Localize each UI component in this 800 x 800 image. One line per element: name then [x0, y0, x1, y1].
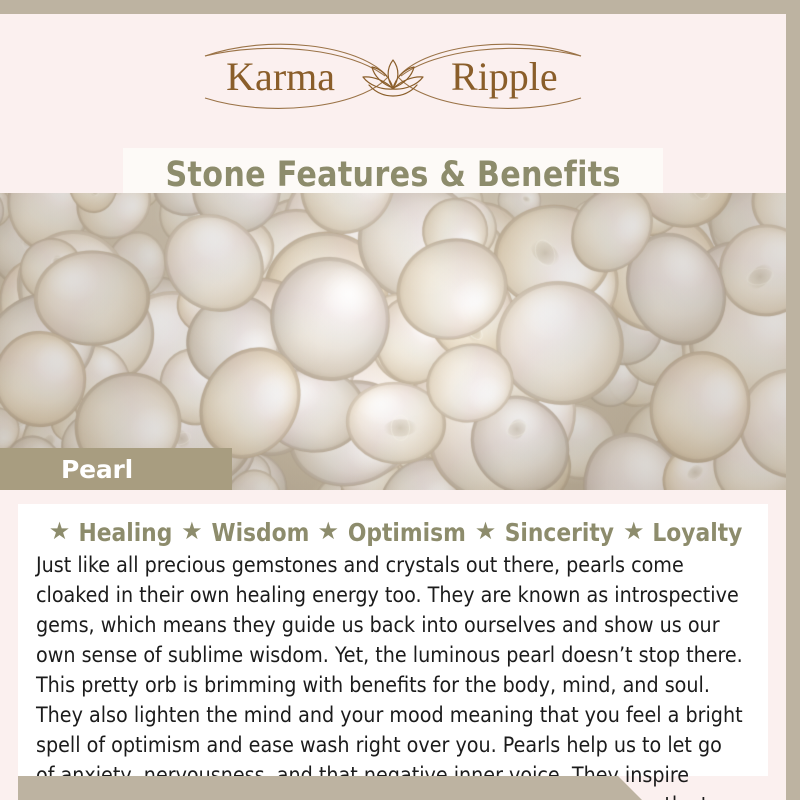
pearl-photo-image — [0, 193, 786, 490]
benefit-item: ★Wisdom — [174, 518, 310, 547]
star-icon: ★ — [475, 520, 497, 544]
benefits-list: ★Healing★Wisdom★Optimism★Sincerity★Loyal… — [34, 518, 752, 547]
brand-logo: Karma Ripple — [173, 38, 613, 114]
benefit-label: Optimism — [348, 518, 466, 547]
stone-description: Just like all precious gemstones and cry… — [34, 551, 745, 800]
star-icon: ★ — [181, 520, 203, 544]
benefit-label: Wisdom — [211, 518, 309, 547]
star-icon: ★ — [623, 520, 645, 544]
brand-name-right: Ripple — [451, 54, 558, 99]
content-panel: ★Healing★Wisdom★Optimism★Sincerity★Loyal… — [18, 504, 768, 776]
stone-photo — [0, 193, 786, 490]
benefit-item: ★Healing — [42, 518, 174, 547]
photo-gap-strip — [0, 490, 786, 504]
benefit-item: ★Sincerity — [468, 518, 616, 547]
brand-name-left: Karma — [226, 54, 335, 99]
benefit-item: ★Optimism — [311, 518, 468, 547]
benefit-item: ★Loyalty — [616, 518, 744, 547]
benefit-label: Healing — [79, 518, 173, 547]
lotus-icon: Karma Ripple — [173, 38, 613, 114]
benefit-label: Loyalty — [653, 518, 743, 547]
page-title: Stone Features & Benefits — [165, 155, 620, 195]
stone-name-band: Pearl — [0, 448, 232, 490]
stone-name-label: Pearl — [61, 455, 133, 484]
outer-frame: Karma Ripple Stone Features & Benefits P… — [0, 0, 800, 800]
bottom-accent-band — [18, 776, 642, 800]
benefit-label: Sincerity — [505, 518, 614, 547]
page-canvas: Karma Ripple Stone Features & Benefits P… — [0, 14, 786, 800]
star-icon: ★ — [318, 520, 340, 544]
star-icon: ★ — [49, 520, 71, 544]
